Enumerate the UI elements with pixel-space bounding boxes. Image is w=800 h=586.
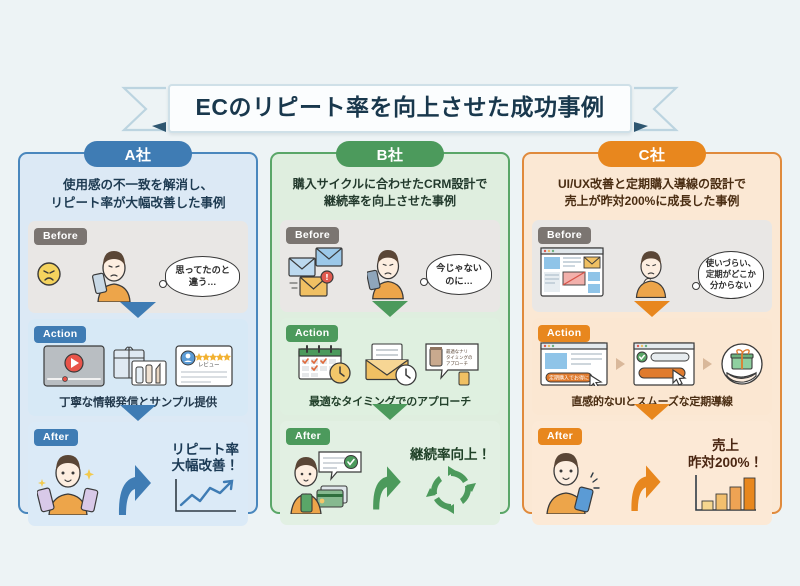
woman-with-phone-icon <box>92 246 136 307</box>
gift-hand-icon <box>720 342 764 391</box>
case-lead-a: 使用感の不一致を解消し、 リピート率が大幅改善した事例 <box>28 176 248 212</box>
case-lead-c: UI/UX改善と定期購入導線の設計で 売上が昨対200%に成長した事例 <box>532 176 772 211</box>
before-badge-a: Before <box>34 228 87 245</box>
company-pill-c: C社 <box>598 141 706 167</box>
connector-chevron-b2-icon <box>372 404 408 420</box>
ribbon-right-tail-icon <box>632 86 684 132</box>
after-badge-a: After <box>34 429 78 446</box>
before-speech-bubble-a: 思ってたのと 違う… <box>165 256 240 297</box>
action-badge-c: Action <box>538 325 590 342</box>
case-lead-b: 購入サイクルに合わせたCRM設計で 継続率を向上させた事例 <box>280 176 500 211</box>
envelope-group-icon: ! <box>288 244 350 305</box>
after-badge-b: After <box>286 428 330 445</box>
case-column-b: B社 購入サイクルに合わせたCRM設計で 継続率を向上させた事例 Before <box>270 152 510 514</box>
action-section-a: Action <box>28 319 248 416</box>
connector-chevron-a1-icon <box>120 302 156 318</box>
action-section-c: Action 定期購入でお得に <box>532 318 772 415</box>
connector-chevron-b1-icon <box>372 301 408 317</box>
svg-text:!: ! <box>325 273 329 282</box>
sample-products-icon <box>112 345 168 392</box>
svg-text:最適なナリ: 最適なナリ <box>446 348 468 355</box>
before-badge-c: Before <box>538 227 591 244</box>
ribbon-left-tail-icon <box>116 86 168 132</box>
arrow-right-small-icon <box>615 357 626 376</box>
line-up-chart-icon <box>172 477 238 520</box>
connector-chevron-a2-icon <box>120 405 156 421</box>
after-section-c: After <box>532 421 772 525</box>
banner-plate: ECのリピート率を向上させた成功事例 <box>168 84 633 133</box>
after-section-b: After <box>280 421 500 525</box>
after-headline-b: 継続率向上！ <box>410 447 491 464</box>
infographic-canvas: ECのリピート率を向上させた成功事例 A社 使用感の不一致を解消し、 リピート率… <box>0 0 800 586</box>
action-badge-a: Action <box>34 326 86 343</box>
title-banner: ECのリピート率を向上させた成功事例 <box>0 84 800 133</box>
happy-woman-phone-icon <box>541 446 605 519</box>
recycle-arrows-icon <box>424 466 478 519</box>
before-badge-b: Before <box>286 227 339 244</box>
svg-text:タイミングの: タイミングの <box>446 354 472 361</box>
svg-text:レビュー: レビュー <box>198 360 220 368</box>
case-columns: A社 使用感の不一致を解消し、 リピート率が大幅改善した事例 Before <box>18 152 782 514</box>
woman-with-phone-icon <box>367 244 409 305</box>
happy-woman-two-phones-icon <box>37 449 99 520</box>
before-speech-bubble-c: 使いづらい、 定期がどこか 分からない <box>698 251 764 299</box>
product-recommend-card-icon: 最適なナリ タイミングの アプローチ <box>425 342 483 391</box>
svg-text:アプローチ: アプローチ <box>446 361 468 367</box>
growth-arrow-icon <box>626 448 666 519</box>
before-section-a: Before <box>28 221 248 313</box>
connector-chevron-c2-icon <box>634 404 670 420</box>
video-player-icon <box>43 345 105 392</box>
sad-face-icon <box>36 261 62 292</box>
connector-chevron-c1-icon <box>634 301 670 317</box>
woman-thinking-icon <box>631 244 671 305</box>
mail-clock-icon <box>362 342 418 391</box>
after-badge-c: After <box>538 428 582 445</box>
before-speech-bubble-b: 今じゃない のに… <box>426 254 492 295</box>
case-column-c: C社 UI/UX改善と定期購入導線の設計で 売上が昨対200%に成長した事例 B… <box>522 152 782 514</box>
company-pill-b: B社 <box>336 141 444 167</box>
after-section-a: After <box>28 422 248 526</box>
cluttered-webpage-icon <box>540 247 604 302</box>
case-column-a: A社 使用感の不一致を解消し、 リピート率が大幅改善した事例 Before <box>18 152 258 514</box>
action-badge-b: Action <box>286 325 338 342</box>
growth-arrow-icon <box>113 449 157 520</box>
calendar-clock-icon <box>297 342 355 391</box>
bar-growth-chart-icon <box>692 474 758 519</box>
before-section-b: Before <box>280 220 500 312</box>
webpage-cta-icon: 定期購入でお得に <box>540 342 608 391</box>
review-card-icon: レビュー <box>175 345 233 392</box>
page-title: ECのリピート率を向上させた成功事例 <box>196 95 605 120</box>
after-headline-a: リピート率 大幅改善！ <box>172 442 240 476</box>
growth-arrow-icon <box>368 448 406 519</box>
woman-chat-card-icon <box>289 446 363 519</box>
before-section-c: Before <box>532 220 772 312</box>
click-button-icon <box>633 342 695 391</box>
after-headline-c: 売上 昨対200%！ <box>688 438 763 472</box>
action-section-b: Action <box>280 318 500 415</box>
company-pill-a: A社 <box>84 141 192 167</box>
svg-text:定期購入でお得に: 定期購入でお得に <box>549 375 589 382</box>
arrow-right-small-icon <box>702 357 713 376</box>
